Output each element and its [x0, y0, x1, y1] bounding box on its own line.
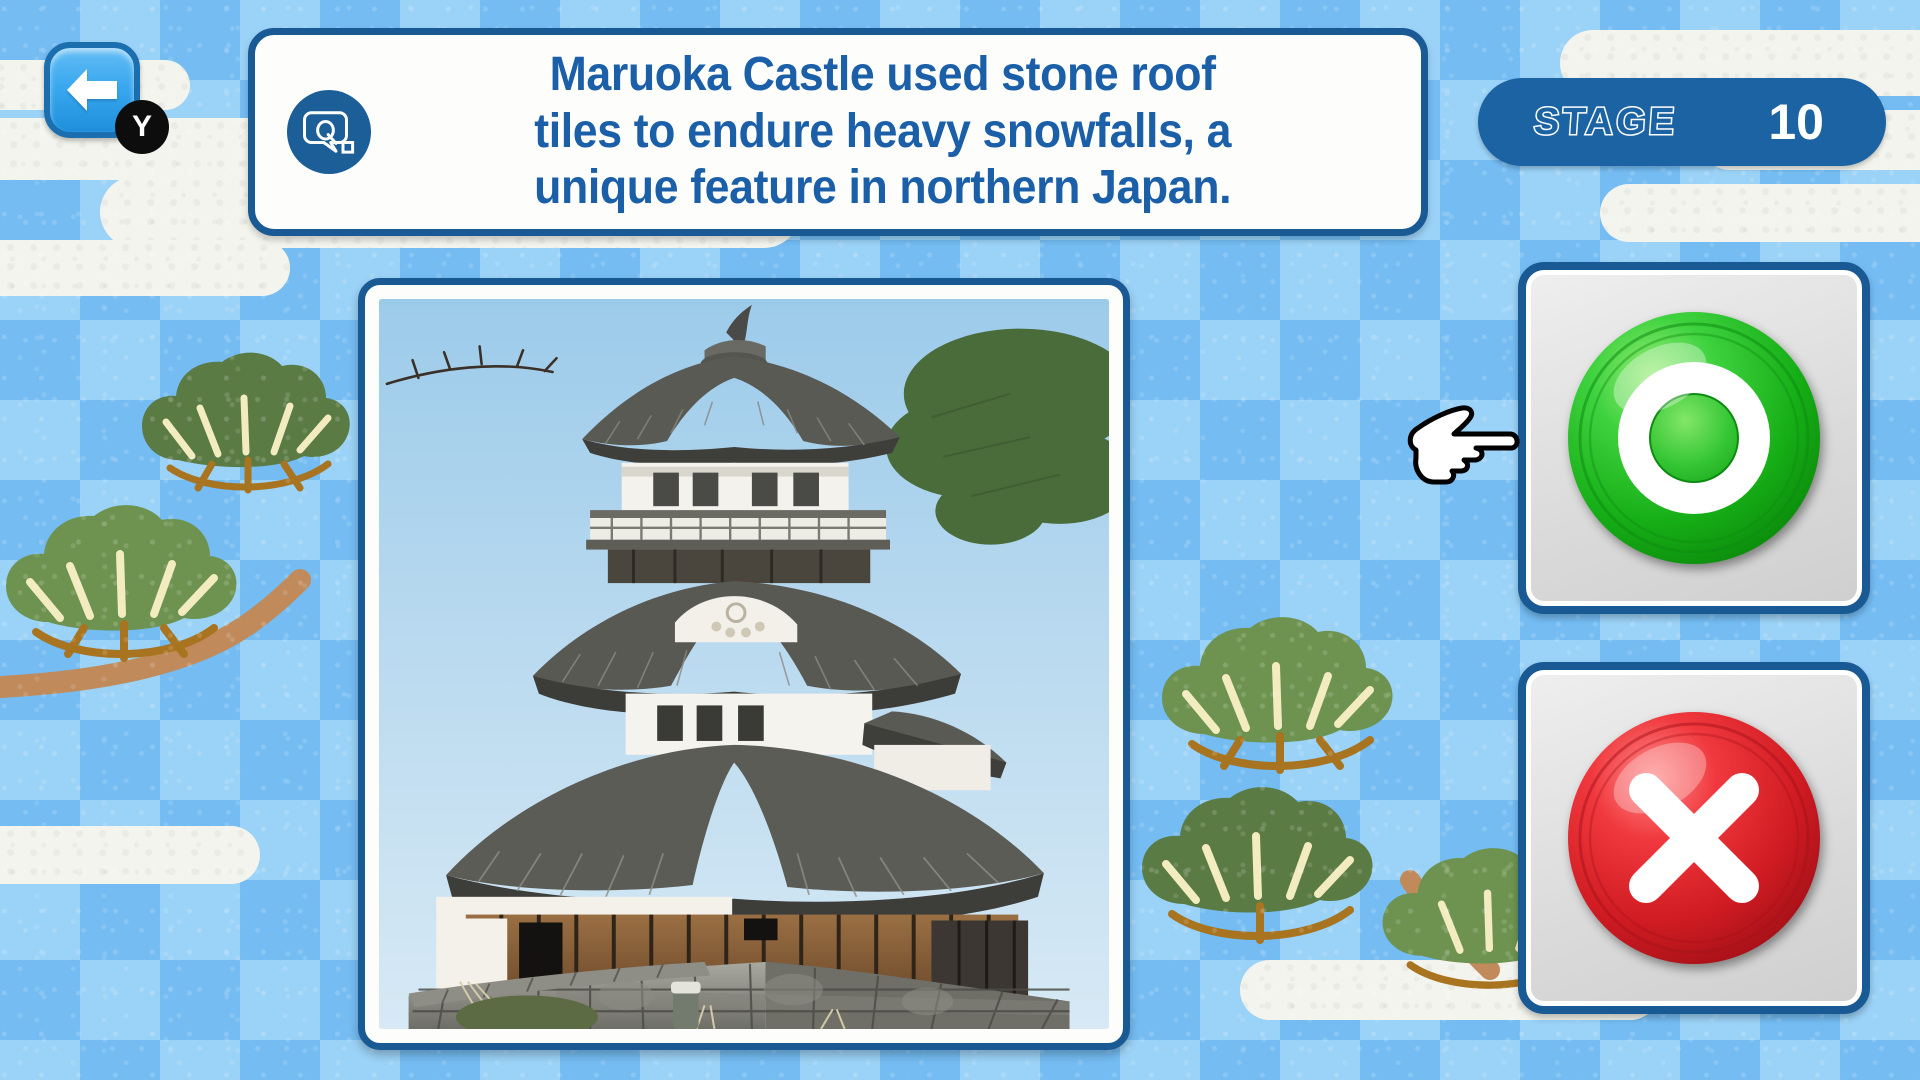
answer-yes-button[interactable]	[1518, 262, 1870, 614]
castle-photo	[379, 299, 1109, 1029]
circle-o-icon	[1562, 306, 1826, 570]
question-text: Maruoka Castle used stone roof tiles to …	[296, 47, 1380, 217]
back-button-hint-badge: Y	[115, 100, 169, 154]
question-banner: Maruoka Castle used stone roof tiles to …	[248, 28, 1428, 236]
stage-badge: STAGE 10	[1478, 78, 1886, 166]
left-arrow-icon	[65, 67, 119, 113]
answer-no-button[interactable]	[1518, 662, 1870, 1014]
back-button-hint-label: Y	[132, 112, 152, 142]
stage-number: 10	[1768, 97, 1824, 147]
cross-x-icon	[1562, 706, 1826, 970]
photo-frame	[358, 278, 1130, 1050]
stage-label: STAGE	[1532, 101, 1678, 144]
